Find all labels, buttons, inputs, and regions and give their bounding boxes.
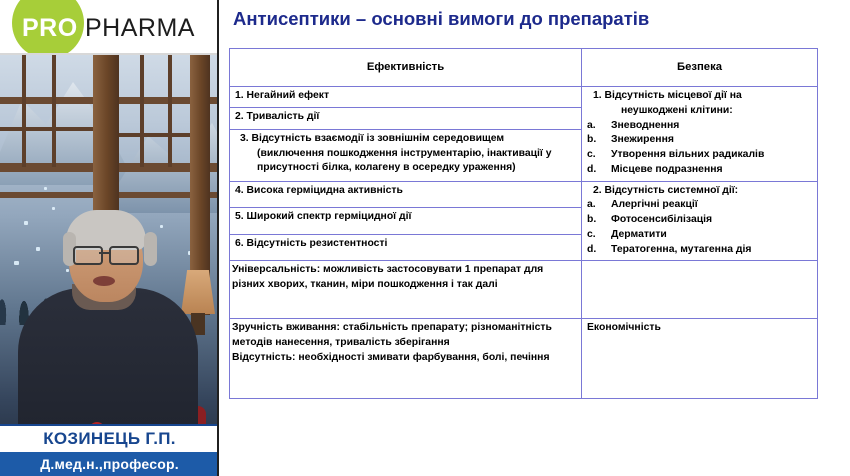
list-text: Знежирення bbox=[611, 133, 812, 148]
presenter-hair bbox=[66, 210, 146, 250]
list-marker: b. bbox=[587, 133, 611, 148]
video-panel: КОЗИНЕЦЬ Г.П. Д.мед.н.,професор. PRO PHA… bbox=[0, 0, 219, 476]
cell-effect-4: 4. Висока герміцидна активність bbox=[230, 181, 582, 208]
speaker-name: КОЗИНЕЦЬ Г.П. bbox=[0, 424, 219, 452]
cell-economy: Економічність bbox=[582, 319, 818, 399]
cell-convenience: Зручність вживання: стабільність препара… bbox=[230, 319, 582, 399]
cell-effect-6: 6. Відсутність резистентності bbox=[230, 234, 582, 261]
cell-effect-1: 1. Негайний ефект bbox=[230, 87, 582, 108]
table-row: 4. Висока герміцидна активність 2. Відсу… bbox=[230, 181, 818, 208]
brand-logo: PRO PHARMA bbox=[0, 0, 219, 55]
cell-safety-blank bbox=[582, 261, 818, 319]
list-item: c. Дерматити bbox=[587, 228, 812, 243]
cell-effect-3-main: 3. Відсутність взаємодії із зовнішнім се… bbox=[235, 132, 576, 147]
logo-pharma-text: PHARMA bbox=[85, 14, 195, 43]
table-row: 1. Негайний ефект 1. Відсутність місцево… bbox=[230, 87, 818, 108]
window-mullion bbox=[119, 133, 190, 137]
list-marker: d. bbox=[587, 243, 611, 258]
window-mullion bbox=[22, 55, 26, 167]
list-item: b. Знежирення bbox=[587, 133, 812, 148]
logo-divider bbox=[0, 53, 219, 55]
logo-pro-text: PRO bbox=[22, 14, 78, 43]
window-mullion bbox=[0, 127, 93, 131]
safety-group2-title: 2. Відсутність системної дії: bbox=[587, 184, 812, 199]
list-item: a. Алергічні реакції bbox=[587, 198, 812, 213]
safety-group1-title: 1. Відсутність місцевої дії на bbox=[587, 89, 812, 104]
list-marker: a. bbox=[587, 119, 611, 134]
list-text: Утворення вільних радикалів bbox=[611, 148, 812, 163]
slide-content: Антисептики – основні вимоги до препарат… bbox=[219, 0, 850, 476]
window-mullion bbox=[52, 55, 56, 167]
list-text: Місцеве подразнення bbox=[611, 163, 812, 178]
table-row: Зручність вживання: стабільність препара… bbox=[230, 319, 818, 399]
column-header-efficiency: Ефективність bbox=[230, 49, 582, 87]
lower-third: КОЗИНЕЦЬ Г.П. Д.мед.н.,професор. bbox=[0, 424, 219, 476]
list-text: Дерматити bbox=[611, 228, 812, 243]
cell-convenience-text: Зручність вживання: стабільність препара… bbox=[232, 321, 576, 351]
list-item: d. Місцеве подразнення bbox=[587, 163, 812, 178]
list-item: a. Зневоднення bbox=[587, 119, 812, 134]
window-mullion bbox=[140, 55, 144, 167]
list-marker: a. bbox=[587, 198, 611, 213]
list-marker: c. bbox=[587, 148, 611, 163]
snow-fleck bbox=[44, 187, 47, 190]
list-marker: b. bbox=[587, 213, 611, 228]
eyeglasses-bridge bbox=[99, 252, 109, 254]
requirements-table: Ефективність Безпека 1. Негайний ефект 1… bbox=[229, 48, 818, 399]
list-text: Зневоднення bbox=[611, 119, 812, 134]
column-header-safety: Безпека bbox=[582, 49, 818, 87]
presenter-hair-side bbox=[144, 232, 157, 266]
safety-group1-title-line2: неушкоджені клітини: bbox=[587, 104, 812, 119]
list-item: c. Утворення вільних радикалів bbox=[587, 148, 812, 163]
table-row: Універсальність: можливість застосовуват… bbox=[230, 261, 818, 319]
presenter-mouth bbox=[93, 276, 115, 286]
slide-root: КОЗИНЕЦЬ Г.П. Д.мед.н.,професор. PRO PHA… bbox=[0, 0, 850, 476]
page-title: Антисептики – основні вимоги до препарат… bbox=[233, 8, 833, 30]
eyeglasses-lens bbox=[109, 246, 139, 265]
cell-effect-5: 5. Широкий спектр герміцидної дії bbox=[230, 208, 582, 235]
cell-safety-group-1: 1. Відсутність місцевої дії на неушкодже… bbox=[582, 87, 818, 182]
list-text: Фотосенсибілізація bbox=[611, 213, 812, 228]
list-text: Алергічні реакції bbox=[611, 198, 812, 213]
panel-divider bbox=[217, 0, 219, 476]
cell-effect-2: 2. Тривалість дії bbox=[230, 108, 582, 129]
list-marker: c. bbox=[587, 228, 611, 243]
list-item: b. Фотосенсибілізація bbox=[587, 213, 812, 228]
cell-safety-group-2: 2. Відсутність системної дії: a. Алергіч… bbox=[582, 181, 818, 261]
eyeglasses-lens bbox=[73, 246, 103, 265]
list-marker: d. bbox=[587, 163, 611, 178]
table-header-row: Ефективність Безпека bbox=[230, 49, 818, 87]
list-item: d. Тератогенна, мутагенна дія bbox=[587, 243, 812, 258]
cell-universality: Універсальність: можливість застосовуват… bbox=[230, 261, 582, 319]
cell-absence-text: Відсутність: необхідності змивати фарбув… bbox=[232, 351, 576, 366]
cell-effect-3-detail: (виключення пошкодження інструментарію, … bbox=[235, 147, 576, 177]
speaker-title: Д.мед.н.,професор. bbox=[0, 452, 219, 476]
window-mullion bbox=[168, 55, 172, 167]
cell-effect-3: 3. Відсутність взаємодії із зовнішнім се… bbox=[230, 129, 582, 181]
list-text: Тератогенна, мутагенна дія bbox=[611, 243, 812, 258]
